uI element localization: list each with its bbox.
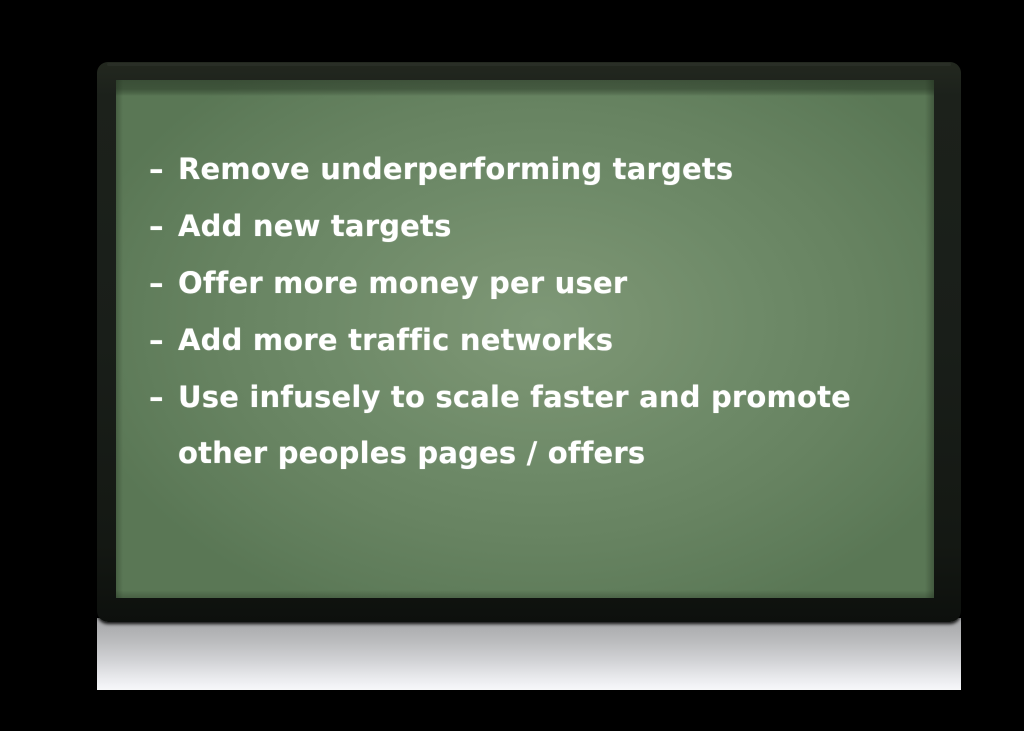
- list-item: –Use infusely to scale faster and promot…: [149, 380, 909, 470]
- slide-canvas: –Remove underperforming targets –Add new…: [0, 0, 1024, 731]
- board-inner-shadow-right: [925, 80, 934, 598]
- bullet-dash-icon: –: [149, 266, 178, 300]
- bullet-text: Use infusely to scale faster and promote: [178, 380, 851, 414]
- list-item: –Remove underperforming targets: [149, 152, 909, 186]
- bullet-dash-icon: –: [149, 152, 178, 186]
- board-shadow-reflection: [97, 618, 961, 690]
- bullet-list: –Remove underperforming targets –Add new…: [149, 152, 909, 470]
- bullet-text: Add new targets: [178, 209, 452, 243]
- list-item: –Offer more money per user: [149, 266, 909, 300]
- bullet-text: Remove underperforming targets: [178, 152, 733, 186]
- chalkboard-surface: –Remove underperforming targets –Add new…: [116, 80, 934, 598]
- bullet-text: Add more traffic networks: [178, 323, 613, 357]
- bullet-dash-icon: –: [149, 380, 178, 414]
- board-inner-shadow-left: [116, 80, 123, 598]
- bullet-dash-icon: –: [149, 323, 178, 357]
- board-inner-shadow-top: [116, 80, 934, 96]
- list-item: –Add new targets: [149, 209, 909, 243]
- bullet-dash-icon: –: [149, 209, 178, 243]
- frame-top-bevel: [107, 63, 951, 66]
- bullet-text-continuation: other peoples pages / offers: [149, 436, 909, 470]
- board-inner-shadow-bottom: [116, 590, 934, 598]
- list-item: –Add more traffic networks: [149, 323, 909, 357]
- chalkboard-frame: –Remove underperforming targets –Add new…: [97, 62, 961, 622]
- bullet-text: Offer more money per user: [178, 266, 627, 300]
